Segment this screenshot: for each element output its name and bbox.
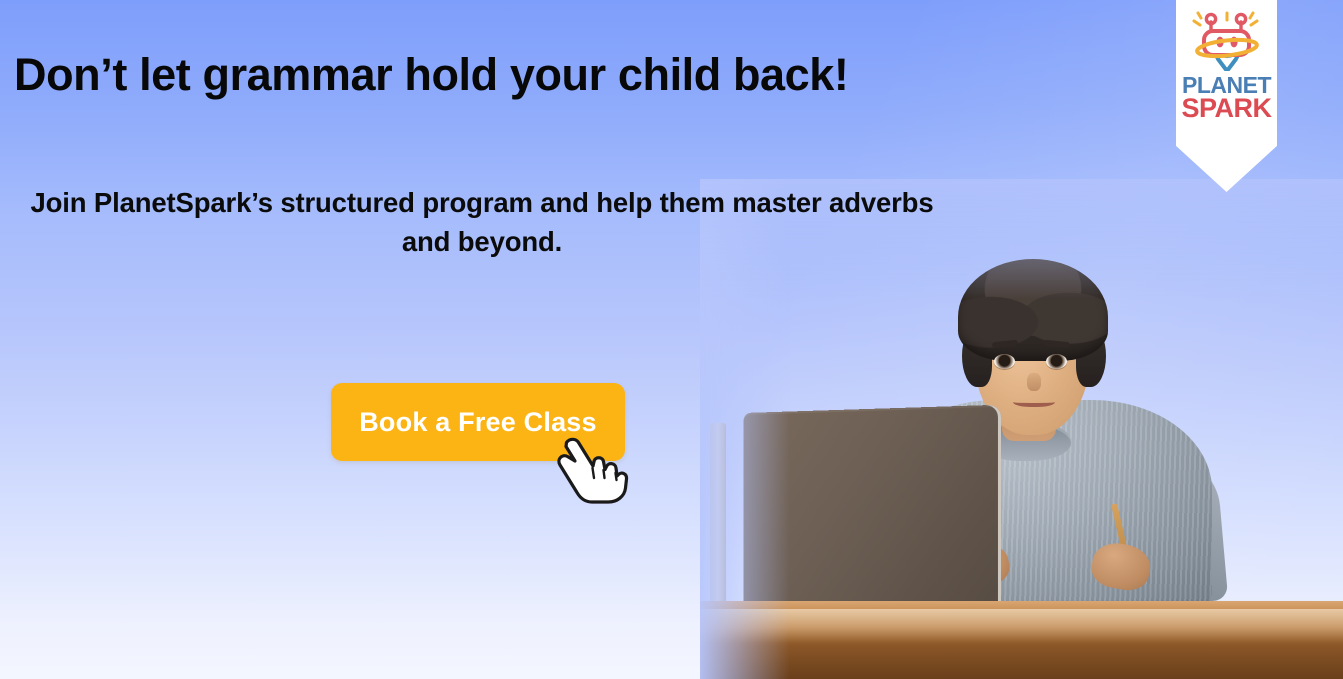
boy-nose (1027, 373, 1041, 391)
promo-banner: Don’t let grammar hold your child back! … (0, 0, 1343, 679)
cta-container: Book a Free Class (331, 383, 625, 461)
laptop-screen-lid (744, 405, 1002, 614)
desk-reflection (700, 609, 1343, 643)
boy-eye-left (994, 354, 1015, 369)
page-title: Don’t let grammar hold your child back! (14, 50, 974, 100)
book-free-class-button[interactable]: Book a Free Class (331, 383, 625, 461)
logo-wordmark: PLANET SPARK (1176, 74, 1277, 122)
logo-word-spark: SPARK (1176, 96, 1277, 122)
boy-smile (1013, 396, 1055, 407)
planetspark-logo[interactable]: PLANET SPARK (1176, 0, 1277, 192)
subheading: Join PlanetSpark’s structured program an… (8, 183, 956, 261)
boy-hair (958, 259, 1108, 361)
subheading-line-1: Join PlanetSpark’s structured program an… (31, 187, 822, 218)
boy-eye-right (1046, 354, 1067, 369)
laptop-hinge (710, 423, 726, 609)
planetspark-robot-icon (1190, 9, 1264, 71)
